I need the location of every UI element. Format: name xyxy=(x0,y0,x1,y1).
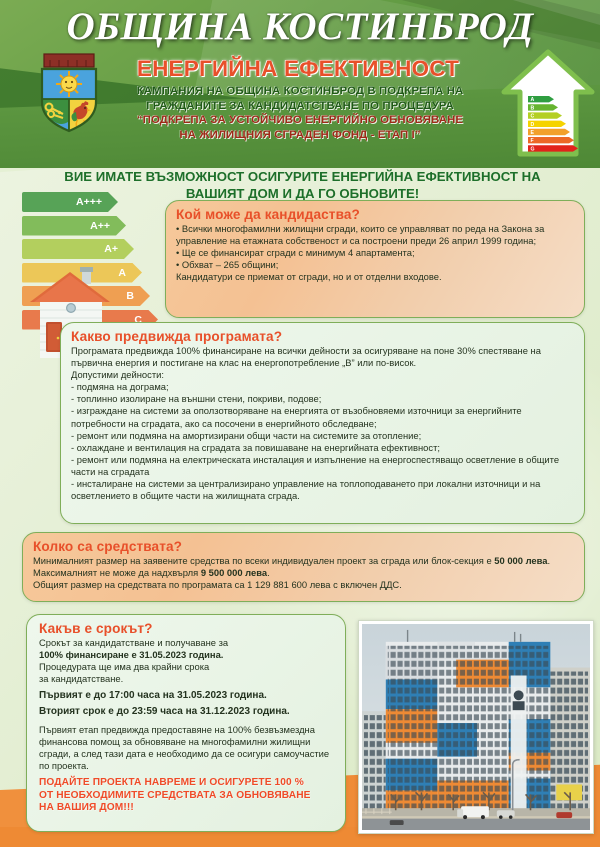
box-money-line-2-a: Максималният не може да надхвърля xyxy=(33,567,201,578)
list-item: ремонт или подмяна на амортизирани общи … xyxy=(71,430,574,442)
box-who-note: Кандидатури се приемат от сгради, но и о… xyxy=(176,271,574,283)
box-money-line-1: Минималният размер на заявените средства… xyxy=(33,555,574,567)
box-money-line-3: Общият размер на средствата по програмат… xyxy=(33,579,574,591)
list-item: Обхват – 265 общини; xyxy=(176,259,574,271)
cta-line-2: ОТ НЕОБХОДИМИТЕ СРЕДСТВАТА ЗА ОБНОВЯВАНЕ xyxy=(39,790,335,803)
poster-subtitle: ВИЕ ИМАТЕ ВЪЗМОЖНОСТ ОСИГУРИТЕ ЕНЕРГИЙНА… xyxy=(20,168,585,202)
box-program-title: Какво предвижда програмата? xyxy=(71,329,574,344)
building-photo-frame xyxy=(358,620,594,834)
campaign-line-3: “ПОДКРЕПА ЗА УСТОЙЧИВО ЕНЕРГИЙНО ОБНОВЯВ… xyxy=(90,113,510,128)
house-logo-label-a: A xyxy=(531,97,535,103)
box-term-deadline-1: Първият е до 17:00 часа на 31.05.2023 го… xyxy=(39,690,335,702)
house-logo-bar-g xyxy=(528,145,578,151)
house-logo-label-f: F xyxy=(531,138,534,144)
box-deadline: Какъв е срокът? Срокът за кандидатстване… xyxy=(26,614,346,832)
box-program-subheading: Допустими дейности: xyxy=(71,369,574,381)
campaign-line-1: КАМПАНИЯ НА ОБЩИНА КОСТИНБРОД В ПОДКРЕПА… xyxy=(90,84,510,99)
box-who-bullet-list: Всички многофамилни жилищни сгради, коит… xyxy=(176,223,574,271)
box-term-deadline-2: Вторият срок е до 23:59 часа на 31.12.20… xyxy=(39,706,335,718)
list-item: инсталиране на системи за централизирано… xyxy=(71,478,574,502)
list-item: топлинно изолиране на външни стени, покр… xyxy=(71,393,574,405)
house-logo-label-b: B xyxy=(531,105,535,111)
call-to-action: ПОДАЙТЕ ПРОЕКТА НАВРЕМЕ И ОСИГУРЕТЕ 100 … xyxy=(39,777,335,815)
house-logo-label-e: E xyxy=(531,130,535,136)
campaign-subtitle-block: КАМПАНИЯ НА ОБЩИНА КОСТИНБРОД В ПОДКРЕПА… xyxy=(90,84,510,142)
box-money-line-2: Максималният не може да надхвърля 9 500 … xyxy=(33,567,574,579)
house-logo-label-d: D xyxy=(531,122,535,128)
list-item: ремонт или подмяна на електрическата инс… xyxy=(71,454,574,478)
cta-line-3: НА ВАШИЯ ДОМ!!! xyxy=(39,802,335,815)
box-program-intro: Програмата предвижда 100% финансиране на… xyxy=(71,345,574,369)
box-money-line-2-c: . xyxy=(267,567,270,578)
box-money-title: Колко са средствата? xyxy=(33,539,574,554)
box-term-line-3: Процедурата ще има два крайни срока xyxy=(39,661,335,673)
box-funding-amounts: Колко са средствата? Минималният размер … xyxy=(22,532,585,602)
energy-class-row: A++ xyxy=(22,216,162,237)
building-photo xyxy=(362,624,590,830)
box-program-scope: Какво предвижда програмата? Програмата п… xyxy=(60,322,585,524)
box-money-line-1-a: Минималният размер на заявените средства… xyxy=(33,555,494,566)
box-money-min-amount: 50 000 лева xyxy=(494,555,547,566)
list-item: Ще се финансират сгради с минимум 4 апар… xyxy=(176,247,574,259)
box-program-activity-list: подмяна на дограма; топлинно изолиране н… xyxy=(71,381,574,502)
list-item: подмяна на дограма; xyxy=(71,381,574,393)
box-term-financing-deadline: 100% финансиране е 31.05.2023 година. xyxy=(39,649,335,661)
box-who-title: Кой може да кандидаства? xyxy=(176,207,574,222)
box-money-max-amount: 9 500 000 лева xyxy=(201,567,267,578)
box-term-paragraph: Първият етап предвижда предоставяне на 1… xyxy=(39,724,335,772)
list-item: изграждане на системи за оползотворяване… xyxy=(71,405,574,429)
municipality-title: ОБЩИНА КОСТИНБРОД xyxy=(0,4,600,49)
box-money-line-1-c: . xyxy=(547,555,550,566)
box-term-line-4: за кандидатстване. xyxy=(39,673,335,685)
house-logo-bar-e xyxy=(528,129,570,135)
energy-class-bar-aplus: A+ xyxy=(22,239,134,259)
campaign-line-2: ГРАЖДАНИТЕ ЗА КАНДИДАТСТВАНЕ ПО ПРОЦЕДУР… xyxy=(90,99,510,114)
energy-class-bar-aplusplus: A++ xyxy=(22,216,126,236)
house-logo-label-c: C xyxy=(531,114,535,120)
cta-line-1: ПОДАЙТЕ ПРОЕКТА НАВРЕМЕ И ОСИГУРЕТЕ 100 … xyxy=(39,777,335,790)
box-term-line-1: Срокът за кандидатстване и получаване за xyxy=(39,637,335,649)
house-energy-label-icon: ABCDEFG xyxy=(498,46,598,166)
energy-class-row: A+ xyxy=(22,239,162,260)
list-item: Всички многофамилни жилищни сгради, коит… xyxy=(176,223,574,247)
campaign-title: ЕНЕРГИЙНА ЕФЕКТИВНОСТ xyxy=(96,56,500,82)
poster-root: ОБЩИНА КОСТИНБРОД xyxy=(0,0,600,847)
subtitle-line-1: ВИЕ ИМАТЕ ВЪЗМОЖНОСТ ОСИГУРИТЕ ЕНЕРГИЙНА… xyxy=(20,168,585,185)
box-term-title: Какъв е срокът? xyxy=(39,621,335,636)
house-logo-bar-f xyxy=(528,137,574,143)
campaign-line-4: НА ЖИЛИЩНИЯ СГРАДЕН ФОНД - ЕТАП I” xyxy=(90,128,510,143)
box-who-can-apply: Кой може да кандидаства? Всички многофам… xyxy=(165,200,585,318)
house-logo-label-g: G xyxy=(531,146,535,152)
list-item: охлаждане и вентилация на сградата за по… xyxy=(71,442,574,454)
